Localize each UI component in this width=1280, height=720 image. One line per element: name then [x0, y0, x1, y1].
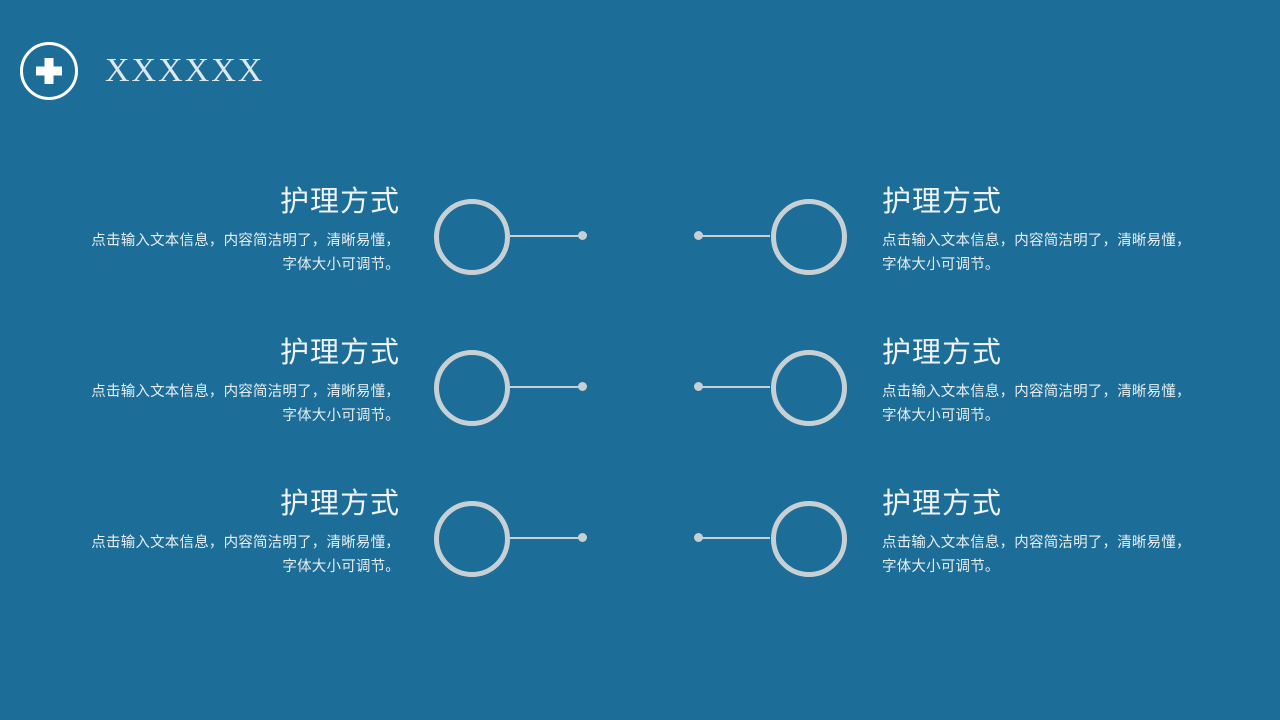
- item-description: 点击输入文本信息，内容简洁明了，清晰易懂，字体大小可调节。: [882, 230, 1192, 278]
- item-block-right: 护理方式 点击输入文本信息，内容简洁明了，清晰易懂，字体大小可调节。: [882, 335, 1192, 429]
- item-block-left: 护理方式 点击输入文本信息，内容简洁明了，清晰易懂，字体大小可调节。: [90, 486, 400, 580]
- connector-line-right: [698, 235, 770, 237]
- diagram-rows: 护理方式 点击输入文本信息，内容简洁明了，清晰易懂，字体大小可调节。 护理方式 …: [0, 178, 1280, 631]
- connector-dot-left: [578, 382, 587, 391]
- node-circle-left[interactable]: [434, 350, 510, 426]
- item-block-right: 护理方式 点击输入文本信息，内容简洁明了，清晰易懂，字体大小可调节。: [882, 184, 1192, 278]
- item-description: 点击输入文本信息，内容简洁明了，清晰易懂，字体大小可调节。: [882, 532, 1192, 580]
- item-description: 点击输入文本信息，内容简洁明了，清晰易懂，字体大小可调节。: [90, 230, 400, 278]
- connector-line-right: [698, 386, 770, 388]
- node-circle-left[interactable]: [434, 501, 510, 577]
- item-description: 点击输入文本信息，内容简洁明了，清晰易懂，字体大小可调节。: [90, 532, 400, 580]
- item-block-right: 护理方式 点击输入文本信息，内容简洁明了，清晰易懂，字体大小可调节。: [882, 486, 1192, 580]
- slide-header: XXXXXX: [20, 42, 264, 100]
- node-circle-right[interactable]: [771, 501, 847, 577]
- item-block-left: 护理方式 点击输入文本信息，内容简洁明了，清晰易懂，字体大小可调节。: [90, 335, 400, 429]
- item-title: 护理方式: [882, 184, 1192, 220]
- page-title: XXXXXX: [105, 54, 264, 88]
- connector-line-left: [510, 386, 582, 388]
- medical-cross-circle-icon: [20, 42, 78, 100]
- slide-canvas: XXXXXX 护理方式 点击输入文本信息，内容简洁明了，清晰易懂，字体大小可调节…: [0, 0, 1280, 720]
- diagram-row: 护理方式 点击输入文本信息，内容简洁明了，清晰易懂，字体大小可调节。 护理方式 …: [0, 178, 1280, 329]
- item-description: 点击输入文本信息，内容简洁明了，清晰易懂，字体大小可调节。: [90, 381, 400, 429]
- connector-dot-left: [578, 231, 587, 240]
- item-block-left: 护理方式 点击输入文本信息，内容简洁明了，清晰易懂，字体大小可调节。: [90, 184, 400, 278]
- connector-dot-left: [578, 533, 587, 542]
- diagram-row: 护理方式 点击输入文本信息，内容简洁明了，清晰易懂，字体大小可调节。 护理方式 …: [0, 480, 1280, 631]
- connector-line-left: [510, 235, 582, 237]
- diagram-row: 护理方式 点击输入文本信息，内容简洁明了，清晰易懂，字体大小可调节。 护理方式 …: [0, 329, 1280, 480]
- node-circle-right[interactable]: [771, 199, 847, 275]
- cross-horizontal-bar: [36, 67, 62, 76]
- connector-line-right: [698, 537, 770, 539]
- item-description: 点击输入文本信息，内容简洁明了，清晰易懂，字体大小可调节。: [882, 381, 1192, 429]
- item-title: 护理方式: [90, 335, 400, 371]
- item-title: 护理方式: [882, 486, 1192, 522]
- item-title: 护理方式: [90, 486, 400, 522]
- connector-line-left: [510, 537, 582, 539]
- node-circle-left[interactable]: [434, 199, 510, 275]
- item-title: 护理方式: [90, 184, 400, 220]
- item-title: 护理方式: [882, 335, 1192, 371]
- node-circle-right[interactable]: [771, 350, 847, 426]
